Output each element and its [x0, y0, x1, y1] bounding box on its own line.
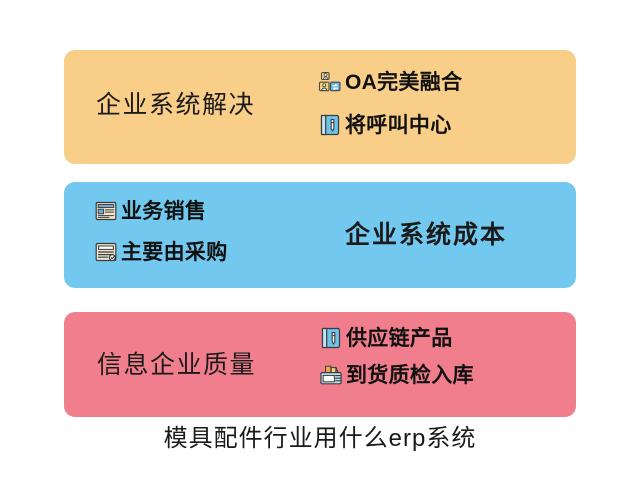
list-item: OA完美融合	[318, 70, 462, 94]
list-item: 主要由采购	[94, 240, 228, 264]
infographic-canvas: 企业系统解决 OA完美融合	[0, 0, 640, 480]
list-item: 将呼叫中心	[318, 113, 462, 137]
list-item: 供应链产品	[319, 326, 474, 350]
panel-item-list: 业务销售 主要由采购	[94, 199, 228, 264]
list-item: 到货质检入库	[319, 363, 474, 387]
news-document-icon	[94, 199, 118, 223]
list-item-label: 业务销售	[121, 201, 206, 222]
list-item-label: 到货质检入库	[346, 365, 474, 386]
panel-item-list: 供应链产品 到货质检入库	[319, 326, 474, 387]
panel-heading: 企业系统成本	[345, 223, 507, 248]
panel-enterprise-system-solution: 企业系统解决 OA完美融合	[64, 50, 576, 164]
list-item-label: 将呼叫中心	[345, 115, 452, 136]
panel-item-list: OA完美融合 将呼叫中心	[318, 70, 462, 137]
caption-text: 模具配件行业用什么erp系统	[0, 427, 640, 451]
list-item: 业务销售	[94, 199, 228, 223]
book-icon	[318, 113, 342, 137]
inbox-tray-icon	[319, 363, 343, 387]
panel-enterprise-system-cost: 业务销售 主要由采购 企业系统成本	[64, 182, 576, 288]
document-edit-icon	[94, 240, 118, 264]
book-icon	[319, 326, 343, 350]
list-item-label: 主要由采购	[121, 242, 228, 263]
panel-heading: 企业系统解决	[96, 93, 255, 118]
list-item-label: OA完美融合	[345, 72, 462, 93]
panel-heading: 信息企业质量	[97, 353, 256, 378]
org-group-icon	[318, 70, 342, 94]
panel-information-enterprise-quality: 信息企业质量 供应链产品	[64, 312, 576, 417]
list-item-label: 供应链产品	[346, 328, 453, 349]
